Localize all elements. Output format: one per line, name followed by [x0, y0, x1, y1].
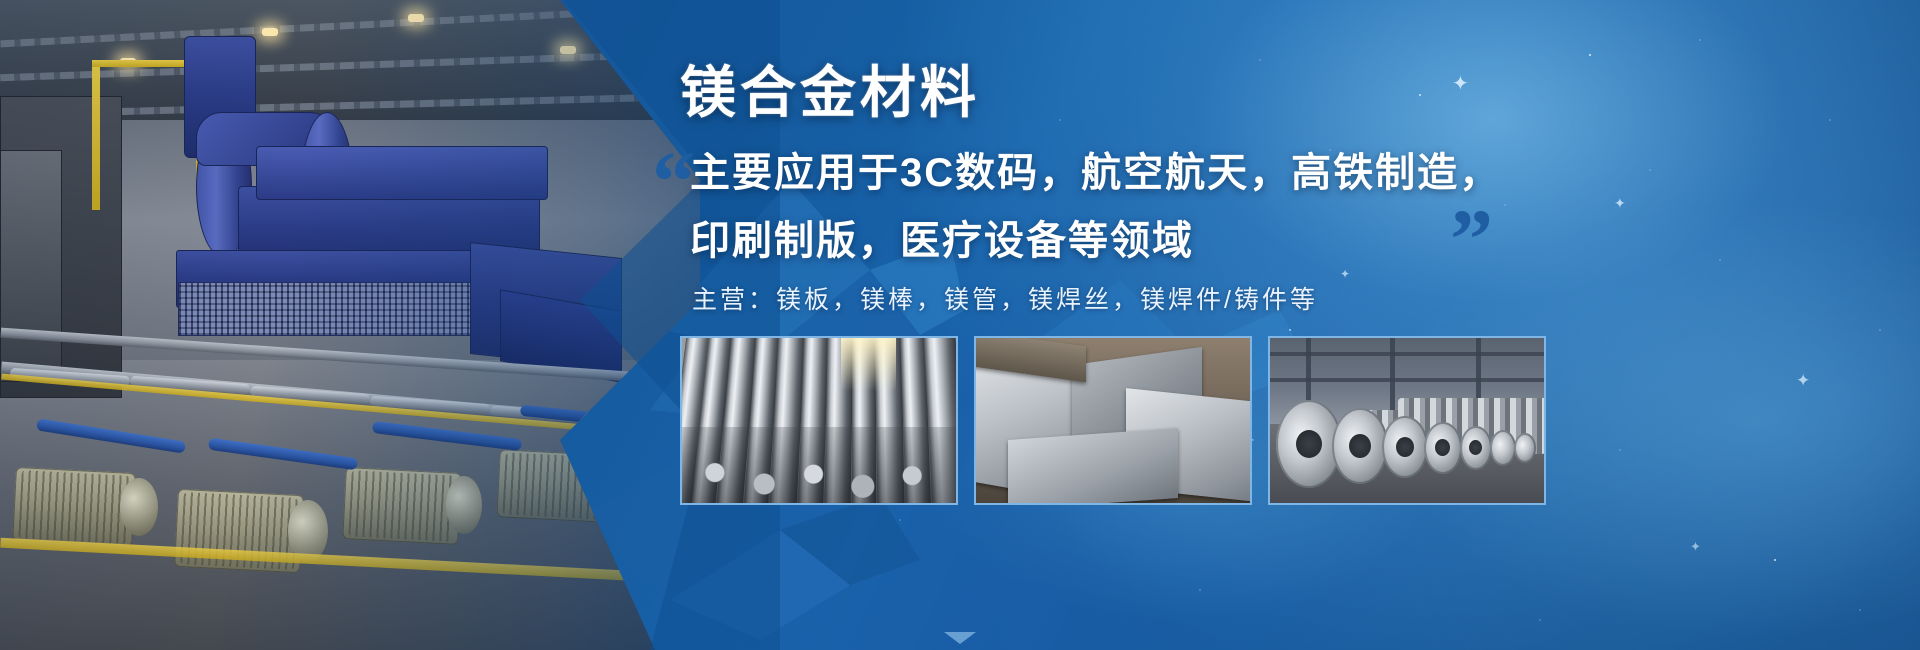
thumbnail-image-plates: [976, 338, 1250, 503]
quote-open-icon: “: [652, 138, 695, 224]
subtitle-line-1: 主要应用于3C数码，航空航天，高铁制造，: [690, 140, 1501, 198]
metal-coil: [1490, 430, 1516, 466]
product-thumbnail-bars[interactable]: [680, 336, 958, 505]
page-title: 镁合金材料: [680, 48, 980, 129]
main-products-line: 主营：镁板，镁棒，镁管，镁焊丝，镁焊件/铸件等: [692, 280, 1318, 316]
product-thumbnail-coils[interactable]: [1268, 336, 1546, 505]
warehouse-beam: [1270, 352, 1544, 356]
metal-plate: [1008, 428, 1178, 505]
banner-content: 镁合金材料 “ ” 主要应用于3C数码，航空航天，高铁制造， 印刷制版，医疗设备…: [680, 0, 1920, 650]
coil-bore: [1349, 434, 1371, 458]
thumbnail-image-bars: [682, 338, 956, 503]
warehouse-beam: [1270, 378, 1544, 382]
coil-bore: [1296, 430, 1322, 458]
product-thumbnail-plates[interactable]: [974, 336, 1252, 505]
magnesium-alloy-banner: ✦ ✦ ✦ ✦ ✦ ✦: [0, 0, 1920, 650]
coil-bore: [1469, 440, 1482, 455]
quote-close-icon: ”: [1450, 196, 1493, 282]
product-thumbnail-strip: [680, 336, 1546, 505]
scroll-down-arrow-icon[interactable]: [944, 632, 976, 644]
overhead-light-glow: [841, 338, 896, 391]
coil-bore: [1435, 439, 1450, 456]
thumbnail-image-coils: [1270, 338, 1544, 503]
coil-bore: [1396, 437, 1414, 457]
bar-end-faces: [682, 427, 956, 503]
metal-coil: [1514, 433, 1536, 463]
subtitle-line-2: 印刷制版，医疗设备等领域: [690, 208, 1194, 266]
